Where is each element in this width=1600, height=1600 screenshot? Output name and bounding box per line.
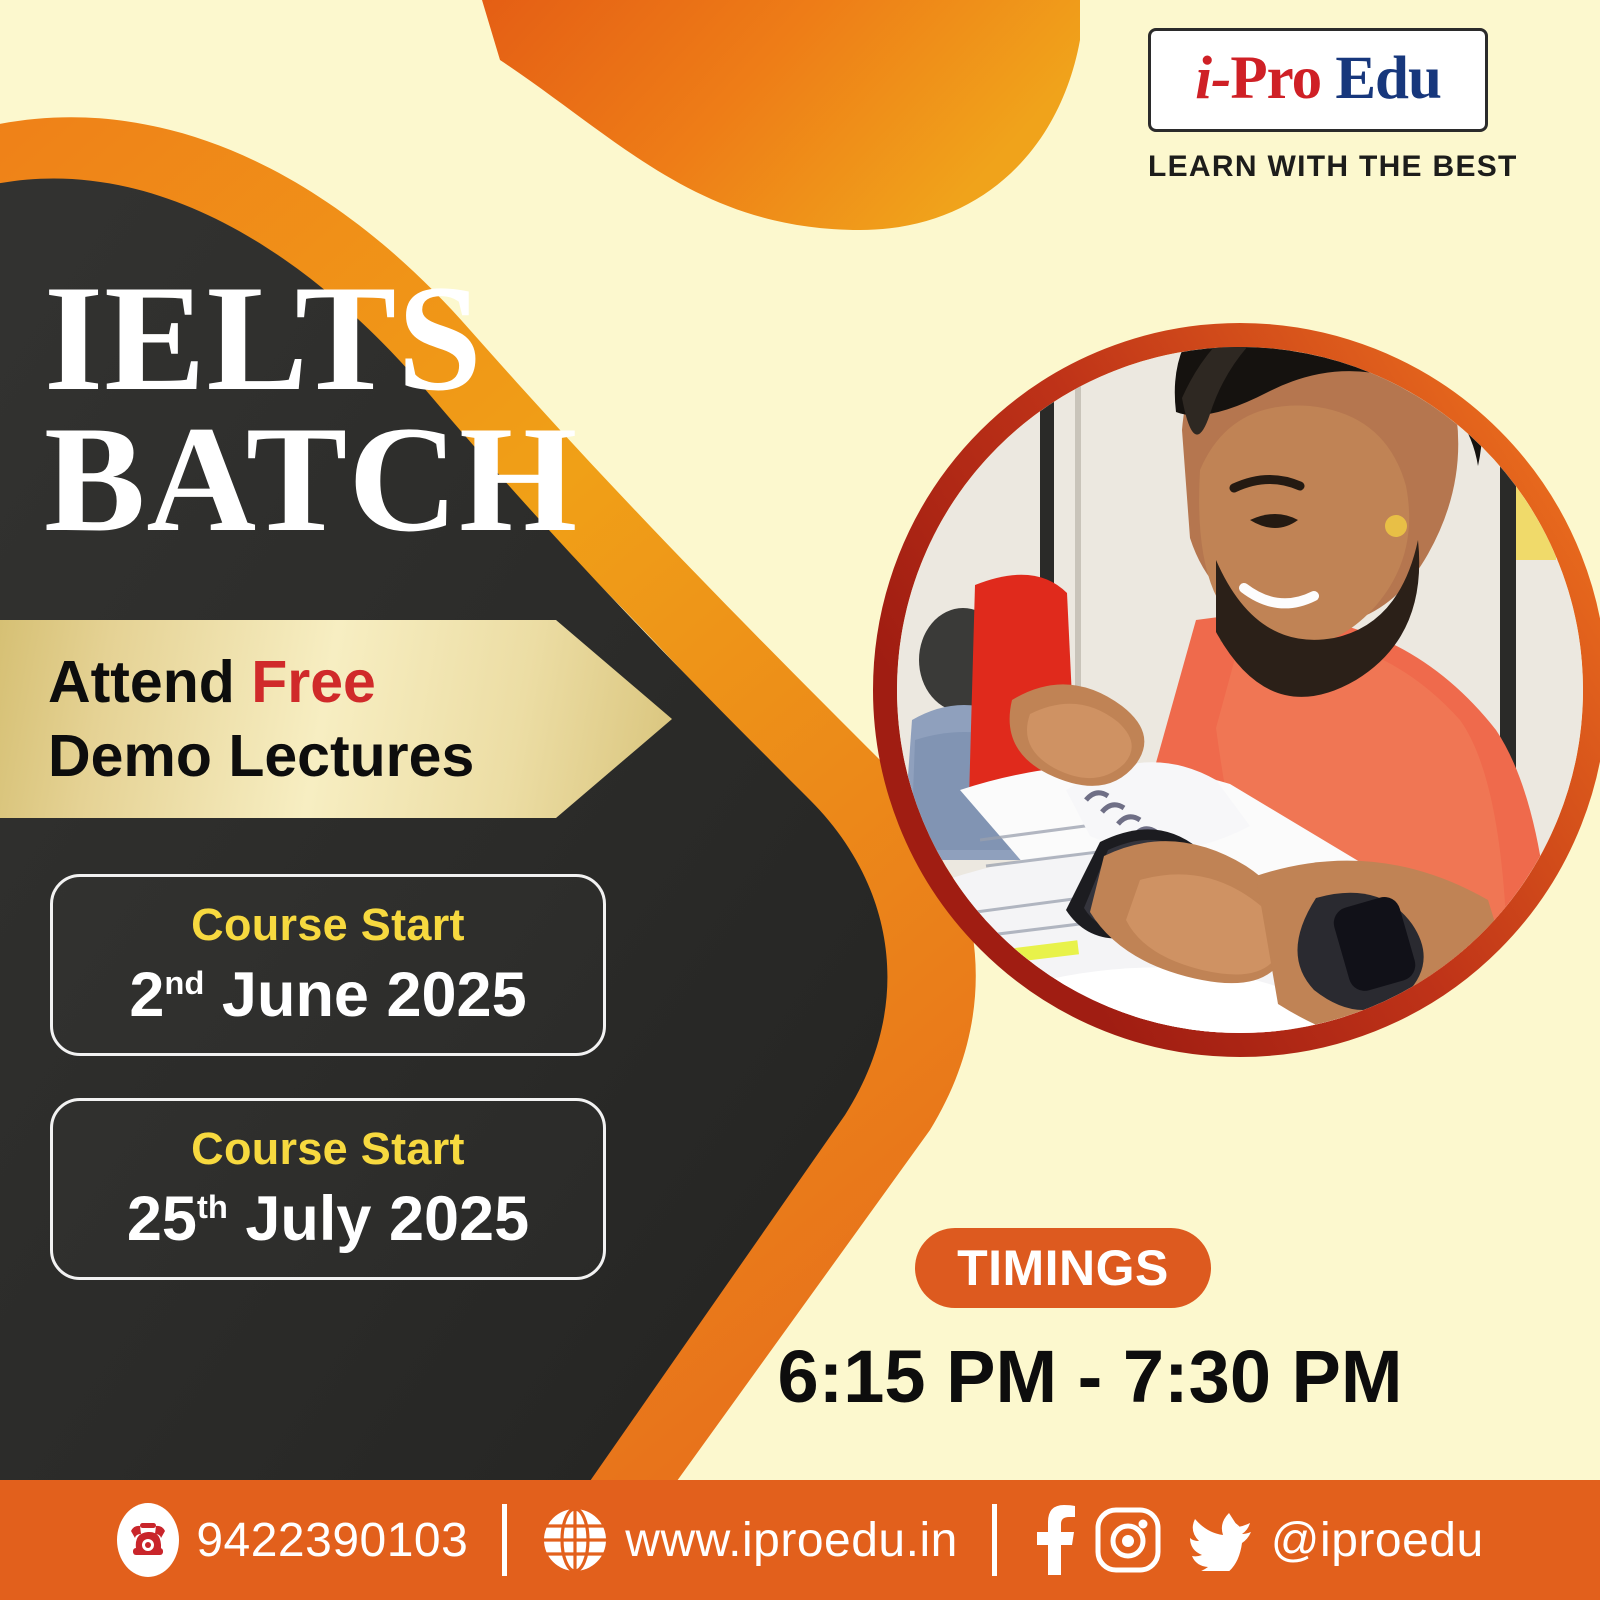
- logo-edu: Edu: [1335, 45, 1441, 112]
- footer-website[interactable]: www.iproedu.in: [541, 1506, 958, 1574]
- date-day-2: 25: [127, 1184, 197, 1254]
- footer-social[interactable]: @iproedu: [1031, 1505, 1484, 1575]
- banner-highlight: Free: [251, 649, 376, 715]
- poster-canvas: i-Pro Edu LEARN WITH THE BEST IELTS BATC…: [0, 0, 1600, 1600]
- instagram-icon[interactable]: [1095, 1507, 1161, 1573]
- contact-footer: 9422390103 www.iproedu.in: [0, 1480, 1600, 1600]
- logo-wordmark: i-Pro Edu: [1195, 48, 1441, 109]
- course-start-label-2: Course Start: [53, 1123, 603, 1175]
- course-start-date-2: 25th July 2025: [53, 1183, 603, 1255]
- twitter-icon[interactable]: [1179, 1509, 1255, 1571]
- banner-line-2: Demo Lectures: [48, 723, 474, 789]
- free-demo-banner: Attend Free Demo Lectures: [0, 620, 672, 818]
- website-url: www.iproedu.in: [625, 1513, 958, 1568]
- logo-i: i-: [1195, 45, 1230, 112]
- course-start-card-1: Course Start 2nd June 2025: [50, 874, 606, 1056]
- phone-icon: [116, 1501, 180, 1579]
- footer-divider-1: [502, 1504, 507, 1576]
- footer-phone[interactable]: 9422390103: [116, 1501, 468, 1579]
- globe-icon: [541, 1506, 609, 1574]
- date-ordinal-1: nd: [164, 964, 204, 1001]
- social-icon-group: [1031, 1505, 1255, 1575]
- logo-pro: Pro: [1230, 45, 1321, 112]
- date-rest-2: July 2025: [228, 1184, 529, 1254]
- timings-value: 6:15 PM - 7:30 PM: [690, 1334, 1490, 1419]
- course-start-date-1: 2nd June 2025: [53, 959, 603, 1031]
- course-start-label-1: Course Start: [53, 899, 603, 951]
- date-rest-1: June 2025: [204, 960, 526, 1030]
- student-photo: [880, 248, 1600, 1226]
- facebook-icon[interactable]: [1031, 1505, 1077, 1575]
- banner-prefix: Attend: [48, 649, 251, 715]
- logo-tagline: LEARN WITH THE BEST: [1148, 150, 1488, 184]
- brand-logo: i-Pro Edu LEARN WITH THE BEST: [1148, 28, 1488, 184]
- date-ordinal-2: th: [197, 1188, 228, 1225]
- top-orange-blob: [470, 0, 1080, 230]
- timings-badge-label: TIMINGS: [957, 1239, 1169, 1297]
- social-handle: @iproedu: [1271, 1513, 1484, 1568]
- footer-divider-2: [992, 1504, 997, 1576]
- phone-number: 9422390103: [196, 1513, 468, 1568]
- logo-box: i-Pro Edu: [1148, 28, 1488, 132]
- date-day-1: 2: [129, 960, 164, 1030]
- course-start-card-2: Course Start 25th July 2025: [50, 1098, 606, 1280]
- headline-line-2: BATCH: [44, 409, 578, 550]
- page-title: IELTS BATCH: [44, 268, 578, 551]
- timings-badge: TIMINGS: [915, 1228, 1211, 1308]
- banner-text: Attend Free Demo Lectures: [48, 646, 474, 794]
